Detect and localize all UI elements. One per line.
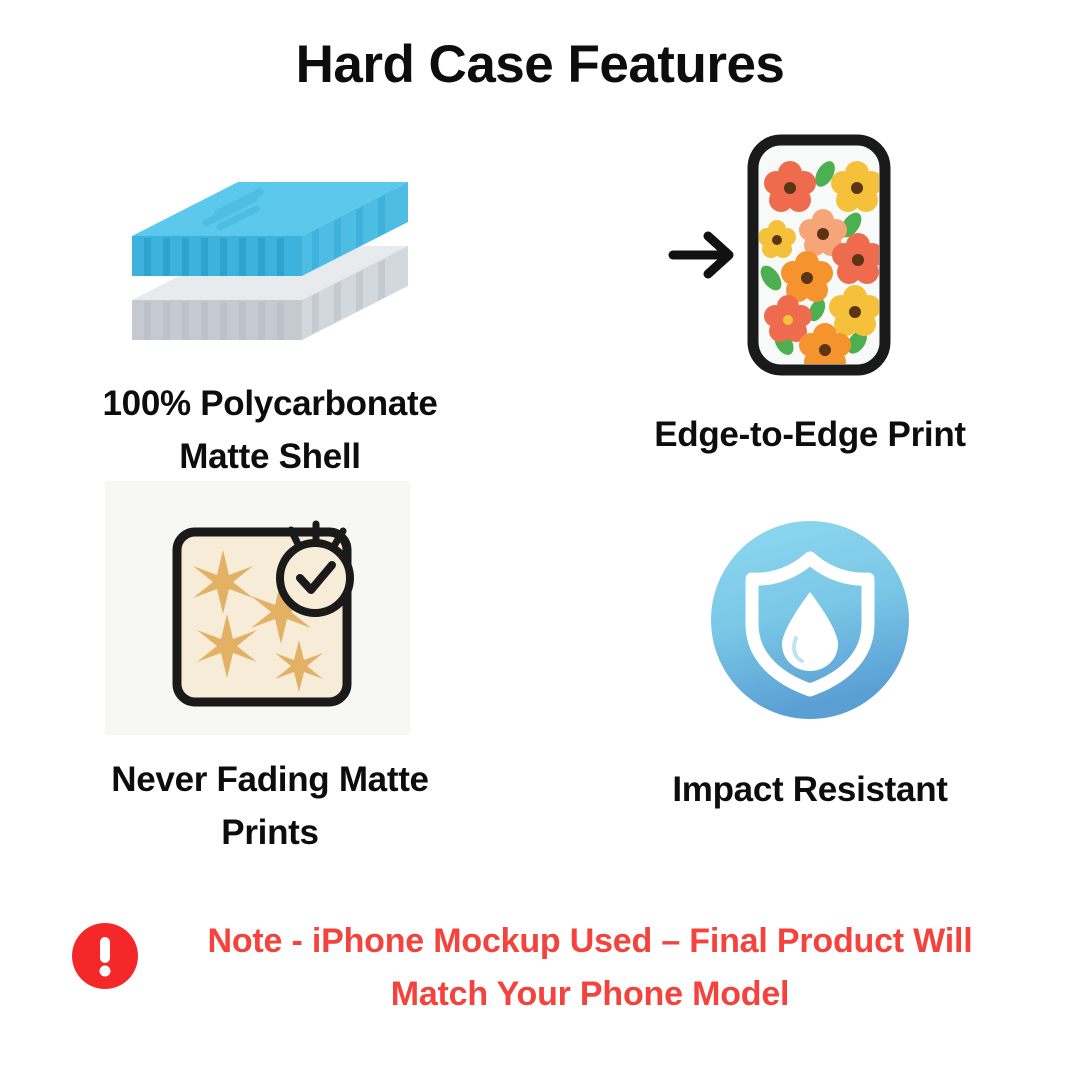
feature-caption-line1: 100% Polycarbonate (102, 384, 437, 423)
shield-droplet-icon (710, 520, 910, 720)
arrow-right-icon (673, 236, 729, 274)
layered-slabs-icon-wrap (20, 150, 520, 365)
shield-droplet-icon-wrap (560, 505, 1060, 735)
feature-never-fading-prints: Never Fading Matte Prints (20, 481, 520, 859)
exclamation-circle-icon (72, 923, 138, 989)
feature-infographic: Hard Case Features (0, 0, 1080, 1080)
sparkle-card-check-icon-wrap (20, 481, 520, 735)
layered-slabs-icon (120, 150, 420, 365)
feature-edge-to-edge-print: Edge-to-Edge Print (560, 130, 1060, 461)
feature-caption-line2: Matte Shell (179, 437, 360, 476)
floral-phone-case-icon (665, 130, 955, 380)
note-text-line1: Note - iPhone Mockup Used – Final Produc… (208, 922, 973, 960)
feature-caption: Impact Resistant (560, 763, 1060, 816)
feature-caption-line1: Never Fading Matte (111, 760, 428, 799)
feature-caption-line1: Edge-to-Edge Print (654, 415, 966, 454)
note-text: Note - iPhone Mockup Used – Final Produc… (150, 915, 1030, 1021)
feature-caption-line1: Impact Resistant (672, 770, 947, 809)
sparkle-card-check-icon (155, 498, 385, 718)
note-text-line2: Match Your Phone Model (150, 968, 1030, 1021)
feature-caption: Edge-to-Edge Print (560, 408, 1060, 461)
feature-polycarbonate-shell: 100% Polycarbonate Matte Shell (20, 150, 520, 483)
feature-caption-line2: Prints (221, 813, 318, 852)
feature-caption: 100% Polycarbonate Matte Shell (20, 377, 520, 483)
floral-phone-case-icon-wrap (560, 130, 1060, 380)
page-title: Hard Case Features (0, 34, 1080, 95)
feature-caption: Never Fading Matte Prints (20, 753, 520, 859)
feature-impact-resistant: Impact Resistant (560, 505, 1060, 816)
